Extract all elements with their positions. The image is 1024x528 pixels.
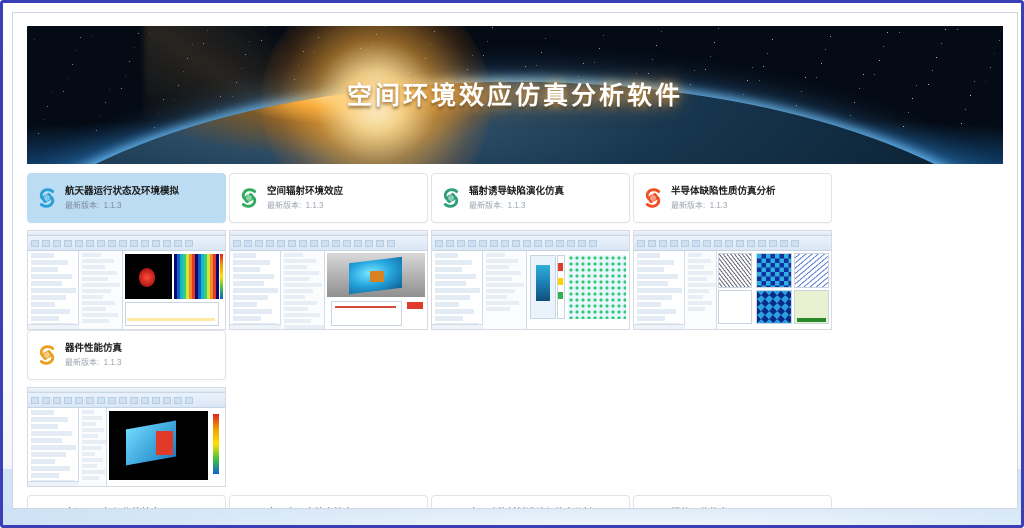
app-logo-icon bbox=[34, 342, 60, 368]
app-card-device-performance-simulation[interactable]: 器件性能仿真最新版本: 1.1.3 bbox=[27, 330, 226, 380]
app-title: 半导体缺陷性质仿真分析 bbox=[671, 185, 776, 198]
app-grid: 航天器运行状态及环境模拟最新版本: 1.1.3空间辐射环境效应最新版本: 1.1… bbox=[27, 173, 1003, 509]
app-tile-electronic-functional-material-design[interactable]: 电子功能材料设计与仿真分析最新版本: 1.0 bbox=[431, 495, 630, 509]
app-logo-icon bbox=[34, 507, 60, 509]
app-title: 空间表面充放电效应 bbox=[267, 507, 353, 510]
app-title: 电子功能材料设计与仿真分析 bbox=[469, 507, 593, 510]
app-logo-icon bbox=[640, 185, 666, 211]
app-title: 空间原子氧与紫外效应 bbox=[65, 507, 160, 510]
app-screenshot-thumbnail[interactable] bbox=[229, 230, 428, 330]
app-logo-icon bbox=[438, 185, 464, 211]
app-logo-icon bbox=[236, 507, 262, 509]
app-title: 器件性能仿真 bbox=[65, 342, 122, 355]
app-card-radiation-induced-defect-evolution[interactable]: 辐射诱导缺陷演化仿真最新版本: 1.1.3 bbox=[431, 173, 630, 223]
app-logo-icon bbox=[236, 185, 262, 211]
app-card-semiconductor-defect-property[interactable]: 半导体缺陷性质仿真分析最新版本: 1.1.3 bbox=[633, 173, 832, 223]
app-version: 最新版本: 1.1.3 bbox=[65, 356, 122, 369]
app-tile-radiation-induced-defect-evolution[interactable]: 辐射诱导缺陷演化仿真最新版本: 1.1.3 bbox=[431, 173, 630, 330]
app-logo-icon bbox=[438, 507, 464, 509]
page-title: 空间环境效应仿真分析软件 bbox=[27, 76, 1003, 112]
app-tile-atomic-oxygen-uv-effect[interactable]: 空间原子氧与紫外效应最新版本: 1.1.3 bbox=[27, 495, 226, 509]
app-screenshot-thumbnail[interactable] bbox=[27, 230, 226, 330]
app-card-atomic-oxygen-uv-effect[interactable]: 空间原子氧与紫外效应最新版本: 1.1.3 bbox=[27, 495, 226, 509]
app-logo-icon bbox=[640, 507, 666, 509]
app-card-spacecraft-operation-state[interactable]: 航天器运行状态及环境模拟最新版本: 1.1.3 bbox=[27, 173, 226, 223]
app-card-electronic-functional-material-design[interactable]: 电子功能材料设计与仿真分析最新版本: 1.0 bbox=[431, 495, 630, 509]
app-card-device-process-simulation[interactable]: 器件工艺仿真最新版本: 1.1.3 bbox=[633, 495, 832, 509]
app-tile-spacecraft-operation-state[interactable]: 航天器运行状态及环境模拟最新版本: 1.1.3 bbox=[27, 173, 226, 330]
app-tile-semiconductor-defect-property[interactable]: 半导体缺陷性质仿真分析最新版本: 1.1.3 bbox=[633, 173, 832, 330]
app-card-space-radiation-environment-effect[interactable]: 空间辐射环境效应最新版本: 1.1.3 bbox=[229, 173, 428, 223]
app-screenshot-thumbnail[interactable] bbox=[27, 387, 226, 487]
application-window: 空间环境效应仿真分析软件 航天器运行状态及环境模拟最新版本: 1.1.3空间辐射… bbox=[0, 0, 1024, 528]
app-version: 最新版本: 1.1.3 bbox=[469, 199, 564, 212]
app-version: 最新版本: 1.1.3 bbox=[671, 199, 776, 212]
app-title: 航天器运行状态及环境模拟 bbox=[65, 185, 179, 198]
content-frame: 空间环境效应仿真分析软件 航天器运行状态及环境模拟最新版本: 1.1.3空间辐射… bbox=[12, 12, 1018, 509]
app-title: 空间辐射环境效应 bbox=[267, 185, 343, 198]
app-screenshot-thumbnail[interactable] bbox=[633, 230, 832, 330]
app-screenshot-thumbnail[interactable] bbox=[431, 230, 630, 330]
app-title: 辐射诱导缺陷演化仿真 bbox=[469, 185, 564, 198]
hero-banner: 空间环境效应仿真分析软件 bbox=[27, 26, 1003, 164]
app-version: 最新版本: 1.1.3 bbox=[267, 199, 343, 212]
app-title: 器件工艺仿真 bbox=[671, 507, 728, 510]
app-logo-icon bbox=[34, 185, 60, 211]
app-tile-surface-charging-discharging-effect[interactable]: 空间表面充放电效应最新版本: 1.1.3 bbox=[229, 495, 428, 509]
app-tile-space-radiation-environment-effect[interactable]: 空间辐射环境效应最新版本: 1.1.3 bbox=[229, 173, 428, 330]
app-tile-device-process-simulation[interactable]: 器件工艺仿真最新版本: 1.1.3 bbox=[633, 495, 832, 509]
app-tile-device-performance-simulation[interactable]: 器件性能仿真最新版本: 1.1.3 bbox=[27, 330, 226, 487]
app-card-surface-charging-discharging-effect[interactable]: 空间表面充放电效应最新版本: 1.1.3 bbox=[229, 495, 428, 509]
app-version: 最新版本: 1.1.3 bbox=[65, 199, 179, 212]
